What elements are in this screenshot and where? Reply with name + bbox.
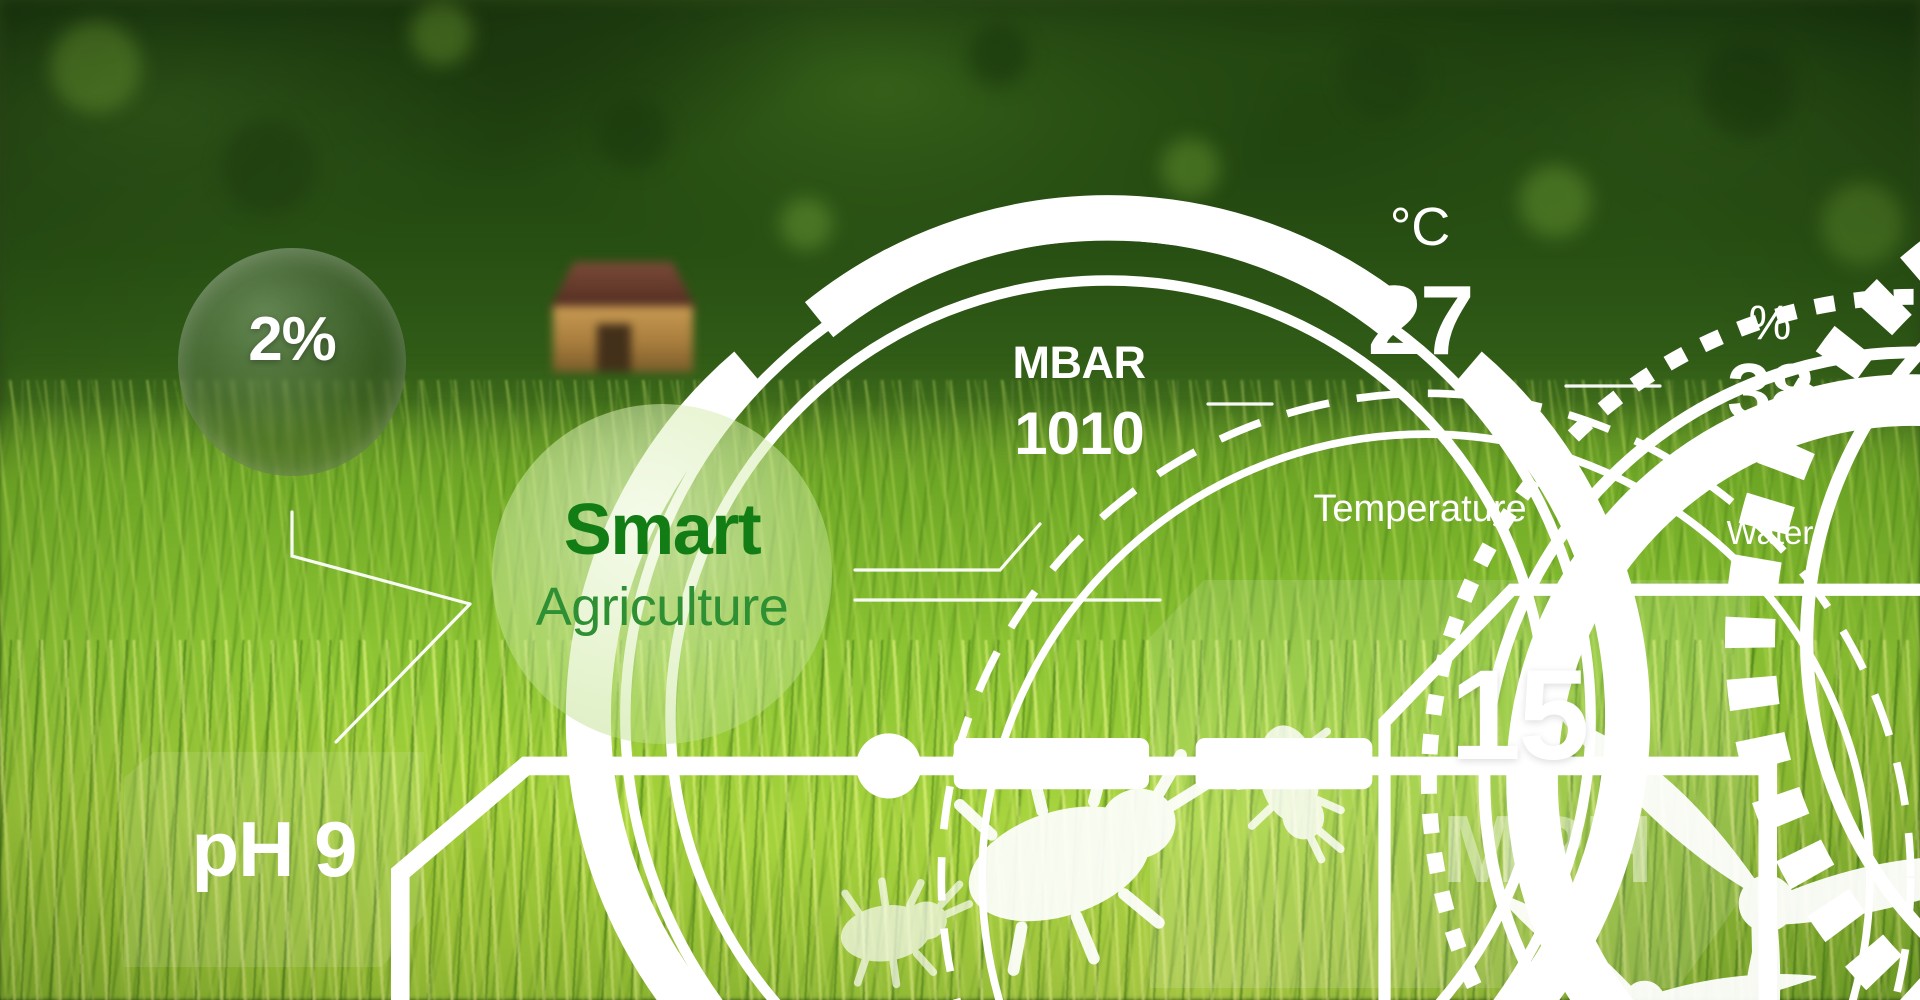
wind-turbine-icon <box>1150 580 1920 1000</box>
pressure-value: 1010 <box>953 399 1205 468</box>
water-unit-label: % <box>1654 296 1886 351</box>
pest-gauge[interactable]: 2% <box>148 218 436 506</box>
temperature-value: 27 <box>1270 264 1570 377</box>
temperature-unit-label: °C <box>1270 196 1570 258</box>
water-caption: Water <box>1644 514 1896 552</box>
wind-value: 15 <box>1450 652 1740 780</box>
ph-panel[interactable]: pH 9 <box>124 752 424 967</box>
hud-overlay: 2% <box>0 0 1920 1000</box>
smart-agriculture-hub[interactable]: Smart Agriculture <box>466 378 858 770</box>
wind-unit-label: MPH <box>1442 802 1742 898</box>
water-value: 38 <box>1654 346 1886 438</box>
smart-hub-title: Smart <box>466 496 858 564</box>
wind-panel[interactable]: 15 MPH <box>1150 580 1750 988</box>
pressure-unit-label: MBAR <box>953 337 1205 389</box>
smart-hub-subtitle: Agriculture <box>466 576 858 638</box>
temperature-caption: Temperature <box>1255 488 1585 531</box>
smart-agriculture-dashboard: 2% <box>0 0 1920 1000</box>
ph-value: pH 9 <box>124 804 424 895</box>
water-gauge[interactable]: % 38 <box>1654 258 1886 490</box>
pressure-gauge[interactable]: MBAR 1010 <box>953 281 1205 533</box>
temperature-gauge[interactable]: °C 27 <box>1270 140 1570 440</box>
